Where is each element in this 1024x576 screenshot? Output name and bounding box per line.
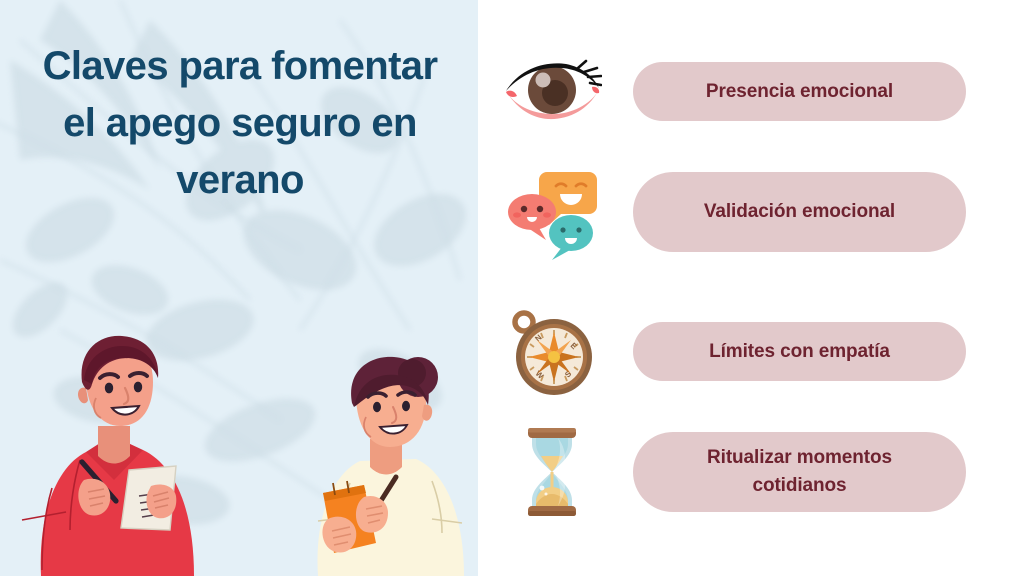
illustration-woman-writing bbox=[292, 355, 478, 576]
compass-icon: N E S W bbox=[504, 304, 600, 400]
pill-ritualizar-momentos[interactable]: Ritualizar momentos cotidianos bbox=[633, 432, 966, 512]
hourglass-icon bbox=[520, 422, 584, 522]
feature-row-presencia-emocional: Presencia emocional bbox=[478, 32, 1024, 152]
pill-validacion-emocional[interactable]: Validación emocional bbox=[633, 172, 966, 252]
icon-slot-3 bbox=[492, 412, 612, 532]
pill-label: Ritualizar momentos cotidianos bbox=[659, 444, 940, 499]
feature-row-limites-con-empatia: N E S W Lími bbox=[478, 292, 1024, 412]
feature-row-ritualizar-momentos: Ritualizar momentos cotidianos bbox=[478, 412, 1024, 532]
left-panel: Claves para fomentar el apego seguro en … bbox=[0, 0, 478, 576]
eye-icon bbox=[502, 57, 602, 127]
pill-label: Límites con empatía bbox=[709, 338, 890, 366]
icon-slot-0 bbox=[492, 32, 612, 152]
slide-root: Claves para fomentar el apego seguro en … bbox=[0, 0, 1024, 576]
pill-presencia-emocional[interactable]: Presencia emocional bbox=[633, 62, 966, 121]
pill-label: Presencia emocional bbox=[706, 78, 893, 106]
speech-bubble-teal bbox=[549, 215, 593, 260]
speech-bubbles-icon bbox=[502, 162, 602, 262]
right-panel: Presencia emocional bbox=[478, 0, 1024, 576]
pill-limites-con-empatia[interactable]: Límites con empatía bbox=[633, 322, 966, 381]
speech-bubble-coral bbox=[508, 194, 556, 240]
pill-label: Validación emocional bbox=[704, 198, 895, 226]
feature-row-validacion-emocional: Validación emocional bbox=[478, 152, 1024, 272]
page-title: Claves para fomentar el apego seguro en … bbox=[40, 38, 440, 208]
icon-slot-2: N E S W bbox=[492, 292, 612, 412]
illustration-man-writing bbox=[8, 330, 223, 576]
icon-slot-1 bbox=[492, 152, 612, 272]
